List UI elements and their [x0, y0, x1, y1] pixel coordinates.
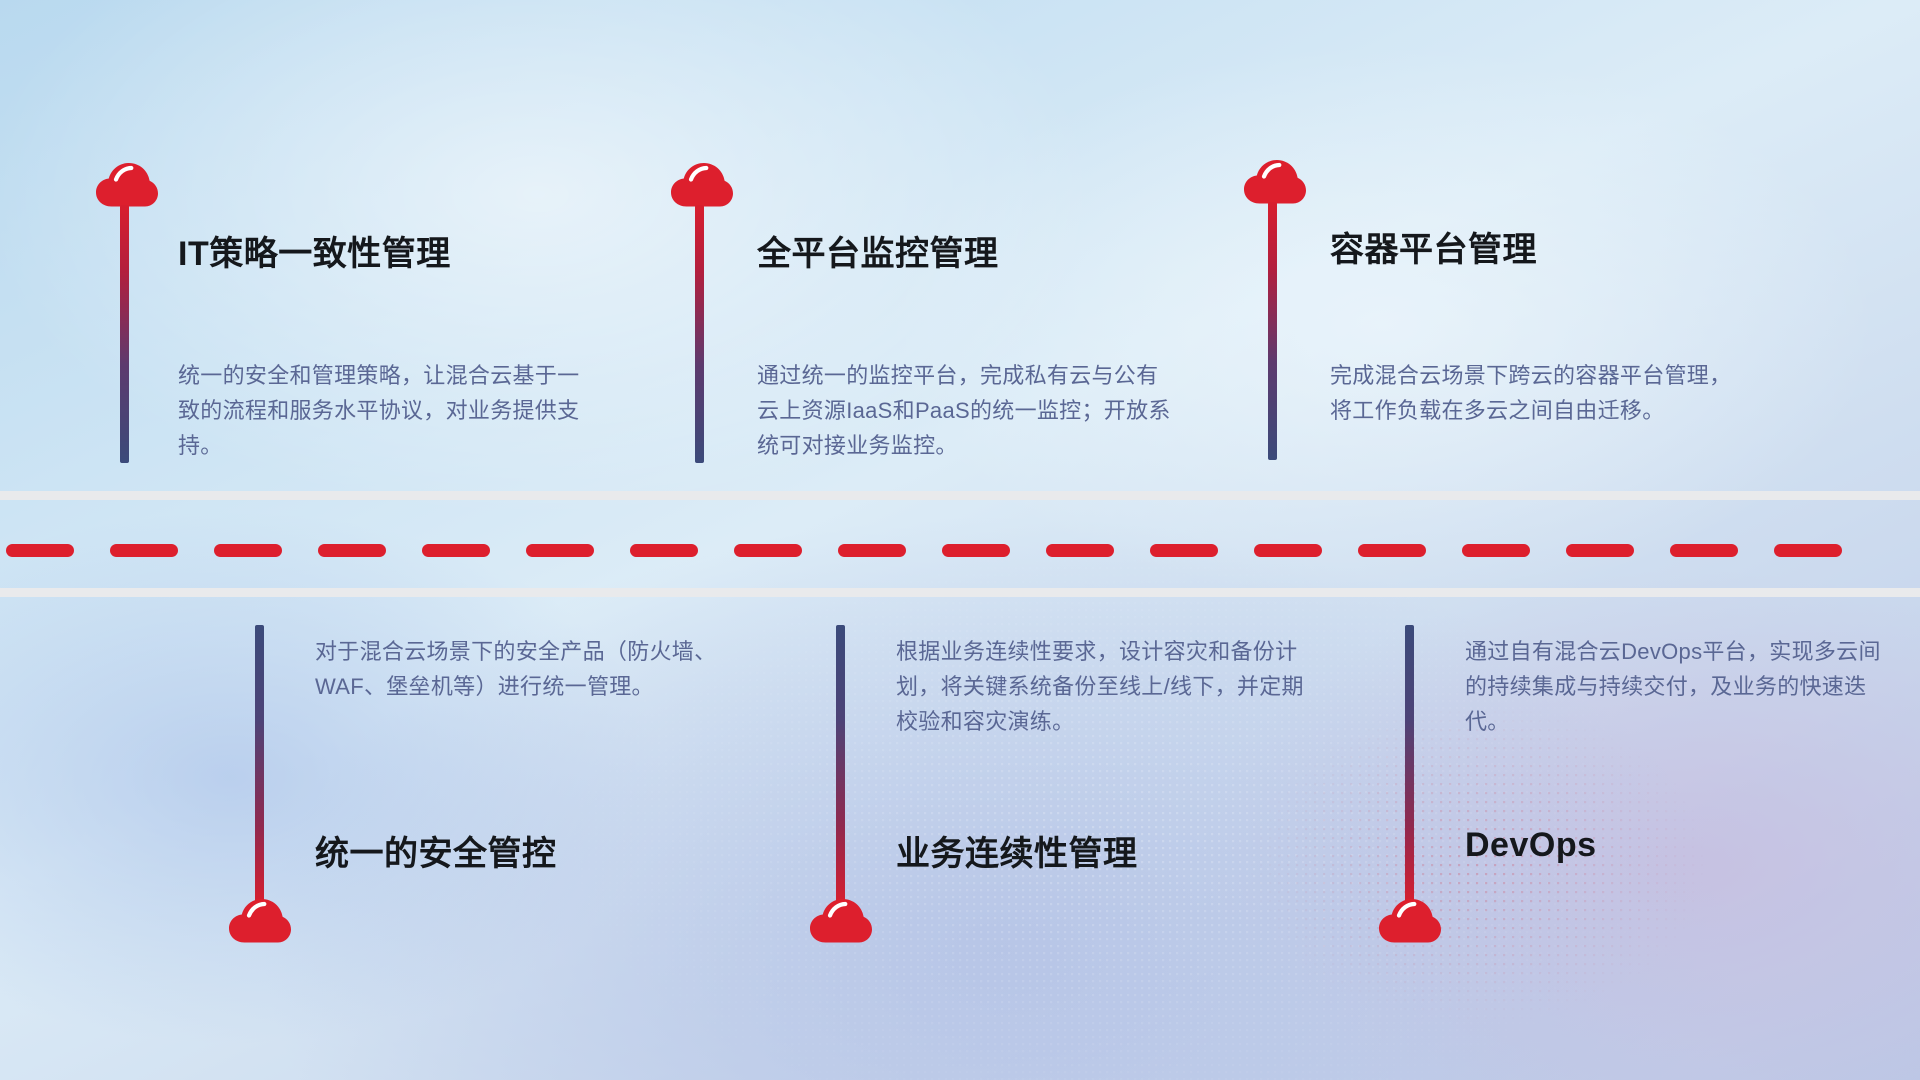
connector-stem	[120, 205, 129, 463]
divider-dash	[1046, 544, 1114, 557]
divider-dash	[214, 544, 282, 557]
cloud-icon	[671, 163, 733, 207]
bottom-item-1-body: 对于混合云场景下的安全产品（防火墙、WAF、堡垒机等）进行统一管理。	[315, 634, 735, 704]
divider-dash	[1774, 544, 1842, 557]
divider-dash	[6, 544, 74, 557]
divider-dash	[630, 544, 698, 557]
divider-dash	[1566, 544, 1634, 557]
top-item-1-title: IT策略一致性管理	[178, 226, 451, 275]
bottom-item-1-title: 统一的安全管控	[315, 826, 557, 875]
connector-stem	[255, 625, 264, 905]
connector-stem	[1268, 202, 1277, 460]
connector-stem	[1405, 625, 1414, 905]
divider-line-bottom	[0, 588, 1920, 597]
divider-dash	[526, 544, 594, 557]
top-item-2-body: 通过统一的监控平台，完成私有云与公有云上资源IaaS和PaaS的统一监控；开放系…	[757, 358, 1177, 463]
divider-dash	[942, 544, 1010, 557]
bottom-item-2-body: 根据业务连续性要求，设计容灾和备份计划，将关键系统备份至线上/线下，并定期校验和…	[896, 634, 1316, 739]
cloud-icon	[96, 163, 158, 207]
top-item-3-body: 完成混合云场景下跨云的容器平台管理，将工作负载在多云之间自由迁移。	[1330, 358, 1750, 428]
divider-dash	[110, 544, 178, 557]
connector-stem	[836, 625, 845, 905]
bottom-item-3-title: DevOps	[1465, 826, 1597, 865]
connector-stem	[695, 205, 704, 463]
divider-dash	[318, 544, 386, 557]
top-item-1-body: 统一的安全和管理策略，让混合云基于一致的流程和服务水平协议，对业务提供支持。	[178, 358, 598, 463]
divider-dash	[1670, 544, 1738, 557]
cloud-icon	[1379, 899, 1441, 943]
divider-dashed-road	[0, 544, 1920, 557]
infographic-canvas: IT策略一致性管理 统一的安全和管理策略，让混合云基于一致的流程和服务水平协议，…	[0, 0, 1920, 1080]
divider-dash	[1254, 544, 1322, 557]
cloud-icon	[1244, 160, 1306, 204]
cloud-icon	[810, 899, 872, 943]
divider-dash	[734, 544, 802, 557]
divider-dash	[1462, 544, 1530, 557]
divider-line-top	[0, 491, 1920, 500]
top-item-2-title: 全平台监控管理	[757, 226, 999, 275]
top-item-3-title: 容器平台管理	[1330, 222, 1537, 271]
divider-dash	[838, 544, 906, 557]
cloud-icon	[229, 899, 291, 943]
divider-dash	[1150, 544, 1218, 557]
divider-dash	[422, 544, 490, 557]
bottom-item-3-body: 通过自有混合云DevOps平台，实现多云间的持续集成与持续交付，及业务的快速迭代…	[1465, 634, 1885, 739]
divider-dash	[1358, 544, 1426, 557]
bottom-item-2-title: 业务连续性管理	[896, 826, 1138, 875]
